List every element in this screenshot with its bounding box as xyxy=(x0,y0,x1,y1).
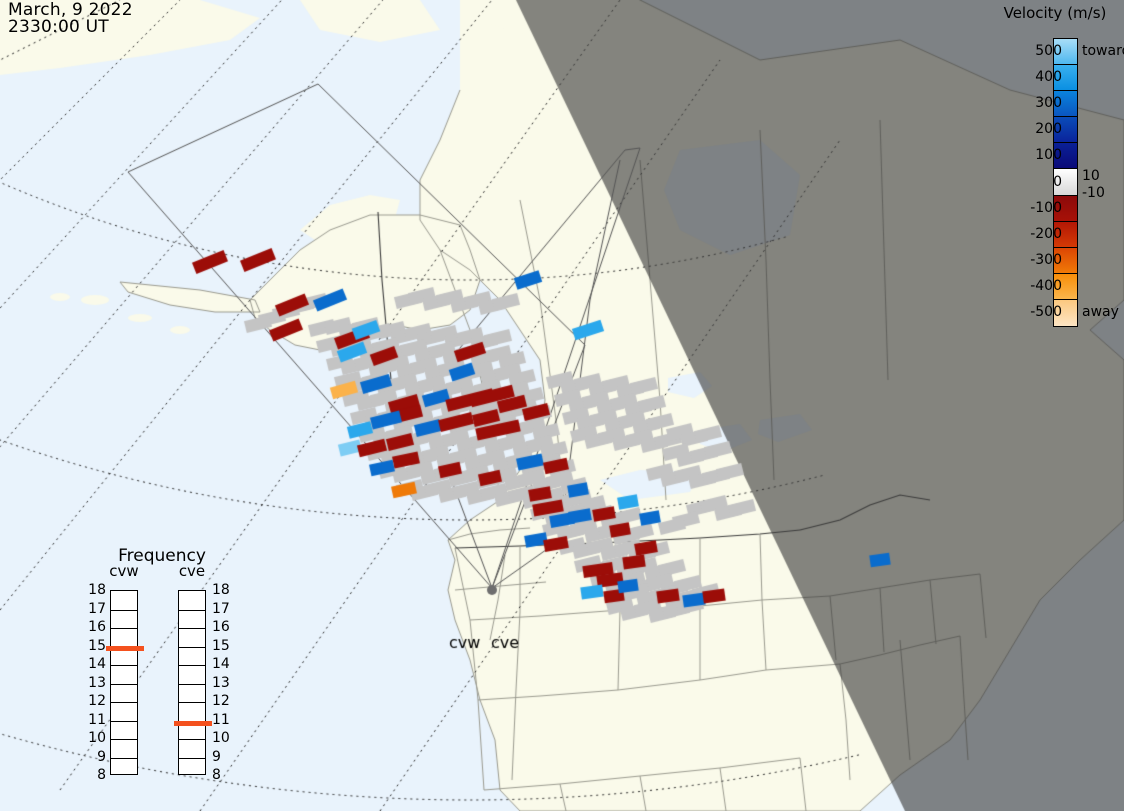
colorbar-away-label: away xyxy=(1082,304,1119,320)
frequency-tick-label: 13 xyxy=(84,675,106,691)
frequency-tick-label: 18 xyxy=(84,582,106,598)
frequency-scale-division xyxy=(111,628,137,629)
colorbar-tick-label: 500 xyxy=(1006,43,1062,59)
colorbar-tick-label: -200 xyxy=(1006,226,1062,242)
colorbar-tick-label: 400 xyxy=(1006,69,1062,85)
frequency-tick-label: 8 xyxy=(212,767,234,783)
frequency-scale-division xyxy=(111,758,137,759)
frequency-tick-label: 12 xyxy=(212,693,234,709)
colorbar-tick-label: 0 xyxy=(1006,174,1062,190)
frequency-scale-division xyxy=(179,665,205,666)
frequency-scale-division xyxy=(179,647,205,648)
frequency-tick-label: 14 xyxy=(84,656,106,672)
colorbar-tick-label: -500 xyxy=(1006,304,1062,320)
frequency-scale-cvw xyxy=(110,590,138,775)
frequency-scale-division xyxy=(111,739,137,740)
frequency-tick-label: 11 xyxy=(212,712,234,728)
frequency-legend: Frequency cvw18171615141312111098cve1817… xyxy=(82,546,242,786)
time-label: 2330:00 UT xyxy=(8,17,109,37)
colorbar-tick-label: -100 xyxy=(1006,200,1062,216)
colorbar-tick-label: 100 xyxy=(1006,147,1062,163)
frequency-tick-label: 11 xyxy=(84,712,106,728)
frequency-scale-division xyxy=(111,702,137,703)
frequency-tick-label: 16 xyxy=(212,619,234,635)
timestamp: March, 9 2022 2330:00 UT xyxy=(8,2,133,37)
colorbar-tick-label: -400 xyxy=(1006,278,1062,294)
frequency-scale-division xyxy=(179,758,205,759)
frequency-scale-division xyxy=(179,610,205,611)
frequency-tick-label: 17 xyxy=(84,601,106,617)
frequency-tick-label: 9 xyxy=(84,749,106,765)
colorbar-negative-threshold-label: -10 xyxy=(1082,185,1105,201)
colorbar-positive-threshold-label: 10 xyxy=(1082,168,1100,184)
colorbar-tick-label: -300 xyxy=(1006,252,1062,268)
frequency-tick-label: 18 xyxy=(212,582,234,598)
colorbar-tick-label: 200 xyxy=(1006,121,1062,137)
frequency-scale-division xyxy=(111,610,137,611)
frequency-scale-division xyxy=(111,684,137,685)
colorbar-tick-label: 300 xyxy=(1006,95,1062,111)
velocity-colorbar: Velocity (m/s) 5004003002001000-100-200-… xyxy=(986,2,1124,342)
frequency-scale-division xyxy=(179,684,205,685)
frequency-tick-label: 13 xyxy=(212,675,234,691)
colorbar-title: Velocity (m/s) xyxy=(986,4,1124,22)
frequency-tick-label: 12 xyxy=(84,693,106,709)
frequency-tick-label: 10 xyxy=(84,730,106,746)
fan-plot-figure: March, 9 2022 2330:00 UT Velocity (m/s) … xyxy=(0,0,1124,811)
frequency-tick-label: 9 xyxy=(212,749,234,765)
frequency-scale-cve xyxy=(178,590,206,775)
frequency-scale-division xyxy=(111,665,137,666)
frequency-scale-division xyxy=(179,739,205,740)
frequency-scale-division xyxy=(179,702,205,703)
frequency-tick-label: 15 xyxy=(84,638,106,654)
frequency-scale-division xyxy=(111,721,137,722)
frequency-tick-label: 10 xyxy=(212,730,234,746)
frequency-tick-label: 16 xyxy=(84,619,106,635)
frequency-scale-division xyxy=(179,628,205,629)
frequency-tick-label: 17 xyxy=(212,601,234,617)
frequency-marker-cvw xyxy=(106,646,144,651)
frequency-tick-label: 8 xyxy=(84,767,106,783)
frequency-marker-cve xyxy=(174,721,212,726)
frequency-radar-name: cvw xyxy=(94,562,154,580)
frequency-tick-label: 15 xyxy=(212,638,234,654)
frequency-radar-name: cve xyxy=(162,562,222,580)
frequency-tick-label: 14 xyxy=(212,656,234,672)
colorbar-toward-label: toward xyxy=(1082,43,1124,59)
